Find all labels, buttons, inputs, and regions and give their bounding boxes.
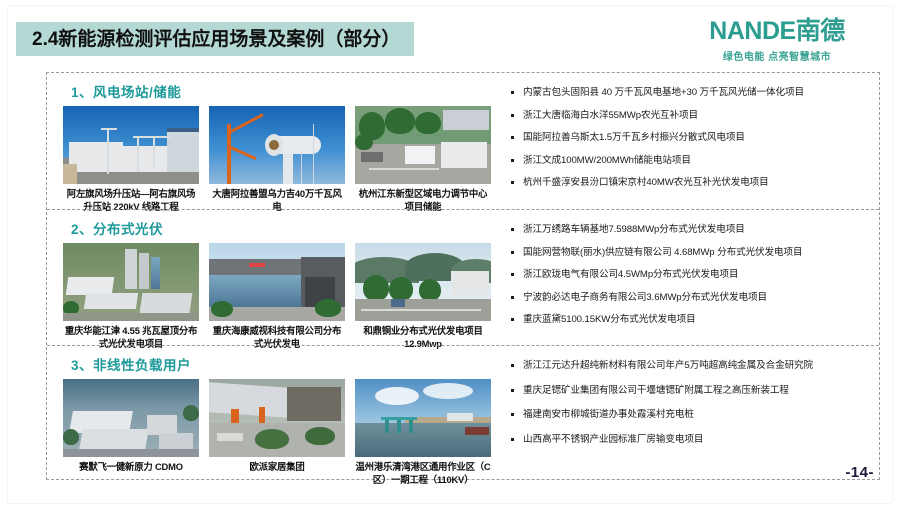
thumbnail-image-port [355,379,491,457]
thumbnail-caption: 欧派家居集团 [209,461,345,474]
bullet-item: 宁波韵必达电子商务有限公司3.6MWp分布式光伏发电项目 [509,292,873,304]
bullet-item: 山西高平不锈钢产业园标准厂房输变电项目 [509,434,873,446]
section-distributed-pv: 2、分布式光伏 [47,209,879,345]
thumbnail-card[interactable]: 杭州江东新型区域电力调节中心项目储能 [355,106,491,213]
bullet-item: 国能网营物联(丽水)供应链有限公司 4.68MWp 分布式光伏发电项目 [509,247,873,259]
bullet-item: 浙江欧珑电气有限公司4.5WMp分布式光伏发电项目 [509,269,873,281]
bullet-item: 浙江万绣路车辆基地7.5988MWp分布式光伏发电项目 [509,224,873,236]
bullet-item: 内蒙古包头固阳县 40 万千瓦风电基地+30 万千瓦风光储一体化项目 [509,87,873,99]
page-title: 2.4新能源检测评估应用场景及案例（部分） [32,30,400,49]
logo-latin: NANDE [709,17,795,45]
section-2-bullets: 浙江万绣路车辆基地7.5988MWp分布式光伏发电项目 国能网营物联(丽水)供应… [495,216,879,341]
section-2-heading: 2、分布式光伏 [71,218,495,238]
bullet-item: 浙江文成100MW/200MWh储能电站项目 [509,155,873,167]
thumbnail-caption: 赛默飞一健新原力 CDMO [63,461,199,474]
thumbnail-image-office [209,243,345,321]
section-3-heading: 3、非线性负载用户 [71,354,495,374]
thumbnail-caption: 温州港乐清湾港区通用作业区（C 区）一期工程（110KV） [355,461,491,486]
thumbnail-image-campus [355,243,491,321]
content-panel: 1、风电场站/储能 [46,72,880,480]
slide-title-banner: 2.4新能源检测评估应用场景及案例（部分） [16,22,414,56]
section-wind-storage: 1、风电场站/储能 [47,73,879,209]
thumbnail-row: 阿左旗风场升压站—阿右旗风场升压站 220kV 线路工程 [63,106,495,213]
section-2-gallery: 2、分布式光伏 [47,216,495,341]
section-3-bullets: 浙江江元达升超纯新材料有限公司年产5万吨超高纯金属及合金研究院 重庆足锶矿业集团… [495,352,879,475]
thumbnail-card[interactable]: 温州港乐清湾港区通用作业区（C 区）一期工程（110KV） [355,379,491,486]
thumbnail-row: 赛默飞一健新原力 CDMO [63,379,495,486]
thumbnail-image-factory-aerial [63,379,199,457]
bullet-item: 杭州千盛淳安县汾口镇宋京村40MW农光互补光伏发电项目 [509,177,873,189]
slide: 2.4新能源检测评估应用场景及案例（部分） NANDE南德 绿色电能 点亮智慧城… [0,0,906,513]
thumbnail-image-storage [355,106,491,184]
section-3-gallery: 3、非线性负载用户 [47,352,495,475]
thumbnail-card[interactable]: 阿左旗风场升压站—阿右旗风场升压站 220kV 线路工程 [63,106,199,213]
bullet-list: 浙江江元达升超纯新材料有限公司年产5万吨超高纯金属及合金研究院 重庆足锶矿业集团… [509,360,873,445]
thumbnail-image-turbine [209,106,345,184]
thumbnail-image-industrial [209,379,345,457]
section-nonlinear-load: 3、非线性负载用户 [47,345,879,479]
bullet-list: 浙江万绣路车辆基地7.5988MWp分布式光伏发电项目 国能网营物联(丽水)供应… [509,224,873,326]
thumbnail-card[interactable]: 欧派家居集团 [209,379,345,486]
bullet-item: 重庆足锶矿业集团有限公司干壜塘锶矿附属工程之高压新装工程 [509,385,873,397]
brand-logo: NANDE南德 绿色电能 点亮智慧城市 [682,18,872,63]
logo-wordmark: NANDE南德 [682,18,872,44]
section-1-bullets: 内蒙古包头固阳县 40 万千瓦风电基地+30 万千瓦风光储一体化项目 浙江大唐临… [495,79,879,205]
bullet-item: 浙江江元达升超纯新材料有限公司年产5万吨超高纯金属及合金研究院 [509,360,873,372]
section-1-heading: 1、风电场站/储能 [71,81,495,101]
bullet-item: 国能阿拉善乌斯太1.5万千瓦乡村振兴分散式风电项目 [509,132,873,144]
bullet-item: 重庆蓝黛5100.15KW分布式光伏发电项目 [509,314,873,326]
logo-cjk: 南德 [796,17,845,45]
thumbnail-row: 重庆华能江津 4.55 兆瓦屋顶分布式光伏发电项目 [63,243,495,350]
logo-tagline: 绿色电能 点亮智慧城市 [682,48,872,63]
thumbnail-card[interactable]: 大唐阿拉善盟乌力吉40万千瓦风电 [209,106,345,213]
thumbnail-card[interactable]: 重庆海康威视科技有限公司分布式光伏发电 [209,243,345,350]
thumbnail-image-plant-aerial [63,243,199,321]
thumbnail-card[interactable]: 和鼎铜业分布式光伏发电项目12.9Mwp [355,243,491,350]
thumbnail-image-substation [63,106,199,184]
thumbnail-card[interactable]: 重庆华能江津 4.55 兆瓦屋顶分布式光伏发电项目 [63,243,199,350]
slide-canvas: 2.4新能源检测评估应用场景及案例（部分） NANDE南德 绿色电能 点亮智慧城… [8,6,892,503]
section-1-gallery: 1、风电场站/储能 [47,79,495,205]
bullet-item: 浙江大唐临海白水洋55MWp农光互补项目 [509,110,873,122]
bullet-list: 内蒙古包头固阳县 40 万千瓦风电基地+30 万千瓦风光储一体化项目 浙江大唐临… [509,87,873,189]
bullet-item: 福建南安市柳城街道办事处霞溪村充电桩 [509,409,873,421]
page-number: -14- [845,464,874,481]
thumbnail-card[interactable]: 赛默飞一健新原力 CDMO [63,379,199,486]
